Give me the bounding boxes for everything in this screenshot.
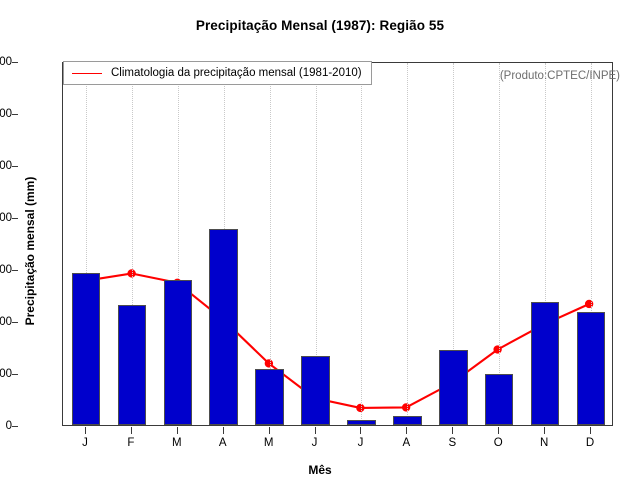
- legend-label: Climatologia da precipitação mensal (198…: [111, 67, 362, 79]
- bar-S-8: [439, 350, 467, 425]
- bar-O-9: [485, 374, 513, 425]
- x-tick-mark: [177, 427, 178, 434]
- x-tick-mark: [269, 427, 270, 434]
- gridline-vertical: [361, 63, 362, 425]
- y-axis-label: Precipitação mensal (mm): [23, 71, 37, 431]
- bar-N-10: [531, 302, 559, 425]
- x-tick-label: J: [340, 437, 380, 449]
- x-tick-mark: [360, 427, 361, 434]
- gridline-vertical: [407, 63, 408, 425]
- x-tick-label: M: [249, 437, 289, 449]
- y-tick-label: 300: [0, 264, 12, 276]
- y-tick-label: 200: [0, 316, 12, 328]
- chart-figure: Precipitação Mensal (1987): Região 55 Pr…: [0, 0, 640, 500]
- bar-A-7: [393, 416, 421, 425]
- x-tick-label: F: [111, 437, 151, 449]
- y-tick-label: 400: [0, 212, 12, 224]
- x-tick-mark: [131, 427, 132, 434]
- bar-M-2: [164, 280, 192, 425]
- y-tick-label: 100: [0, 368, 12, 380]
- x-tick-mark: [590, 427, 591, 434]
- x-axis-label: Mês: [0, 463, 640, 477]
- climatology-point-D-11: D: 234 mm: [585, 300, 593, 308]
- climatology-line: [86, 273, 589, 407]
- climatology-point-J-6: J: 33 mm: [356, 404, 364, 412]
- y-tick-mark: [12, 218, 18, 219]
- climatology-point-A-7: A: 34 mm: [402, 403, 410, 411]
- bar-J-0: [72, 273, 100, 425]
- gridline-vertical: [499, 63, 500, 425]
- x-tick-label: D: [570, 437, 610, 449]
- y-tick-mark: [12, 426, 18, 427]
- x-tick-mark: [406, 427, 407, 434]
- bar-J-6: [347, 420, 375, 425]
- x-tick-label: A: [386, 437, 426, 449]
- x-tick-mark: [544, 427, 545, 434]
- y-tick-mark: [12, 114, 18, 115]
- y-tick-label: 700: [0, 56, 12, 68]
- y-tick-label: 500: [0, 160, 12, 172]
- bar-A-3: [209, 229, 237, 425]
- x-tick-mark: [85, 427, 86, 434]
- bar-M-4: [255, 369, 283, 425]
- plot-area: J: 279 mmF: 293 mmM: 275 mmA: 204 mmM: 1…: [62, 62, 613, 426]
- x-tick-label: O: [478, 437, 518, 449]
- x-tick-label: A: [203, 437, 243, 449]
- x-tick-label: S: [432, 437, 472, 449]
- x-tick-mark: [498, 427, 499, 434]
- legend: Climatologia da precipitação mensal (198…: [63, 61, 372, 85]
- product-note: (Produto:CPTEC/INPE): [500, 70, 620, 82]
- y-axis: Precipitação mensal (mm) 010020030040050…: [0, 0, 62, 500]
- x-tick-label: J: [295, 437, 335, 449]
- bar-D-11: [577, 312, 605, 425]
- chart-title: Precipitação Mensal (1987): Região 55: [0, 18, 640, 33]
- x-tick-mark: [315, 427, 316, 434]
- x-tick-mark: [223, 427, 224, 434]
- x-tick-label: N: [524, 437, 564, 449]
- x-tick-label: M: [157, 437, 197, 449]
- legend-line-swatch: [72, 73, 102, 74]
- x-tick-label: J: [65, 437, 105, 449]
- y-tick-mark: [12, 270, 18, 271]
- y-tick-mark: [12, 166, 18, 167]
- bar-F-1: [118, 305, 146, 425]
- y-tick-mark: [12, 374, 18, 375]
- x-tick-mark: [452, 427, 453, 434]
- y-tick-label: 600: [0, 108, 12, 120]
- bar-J-5: [301, 356, 329, 425]
- climatology-point-O-9: O: 146 mm: [493, 345, 501, 353]
- y-tick-mark: [12, 322, 18, 323]
- y-tick-mark: [12, 62, 18, 63]
